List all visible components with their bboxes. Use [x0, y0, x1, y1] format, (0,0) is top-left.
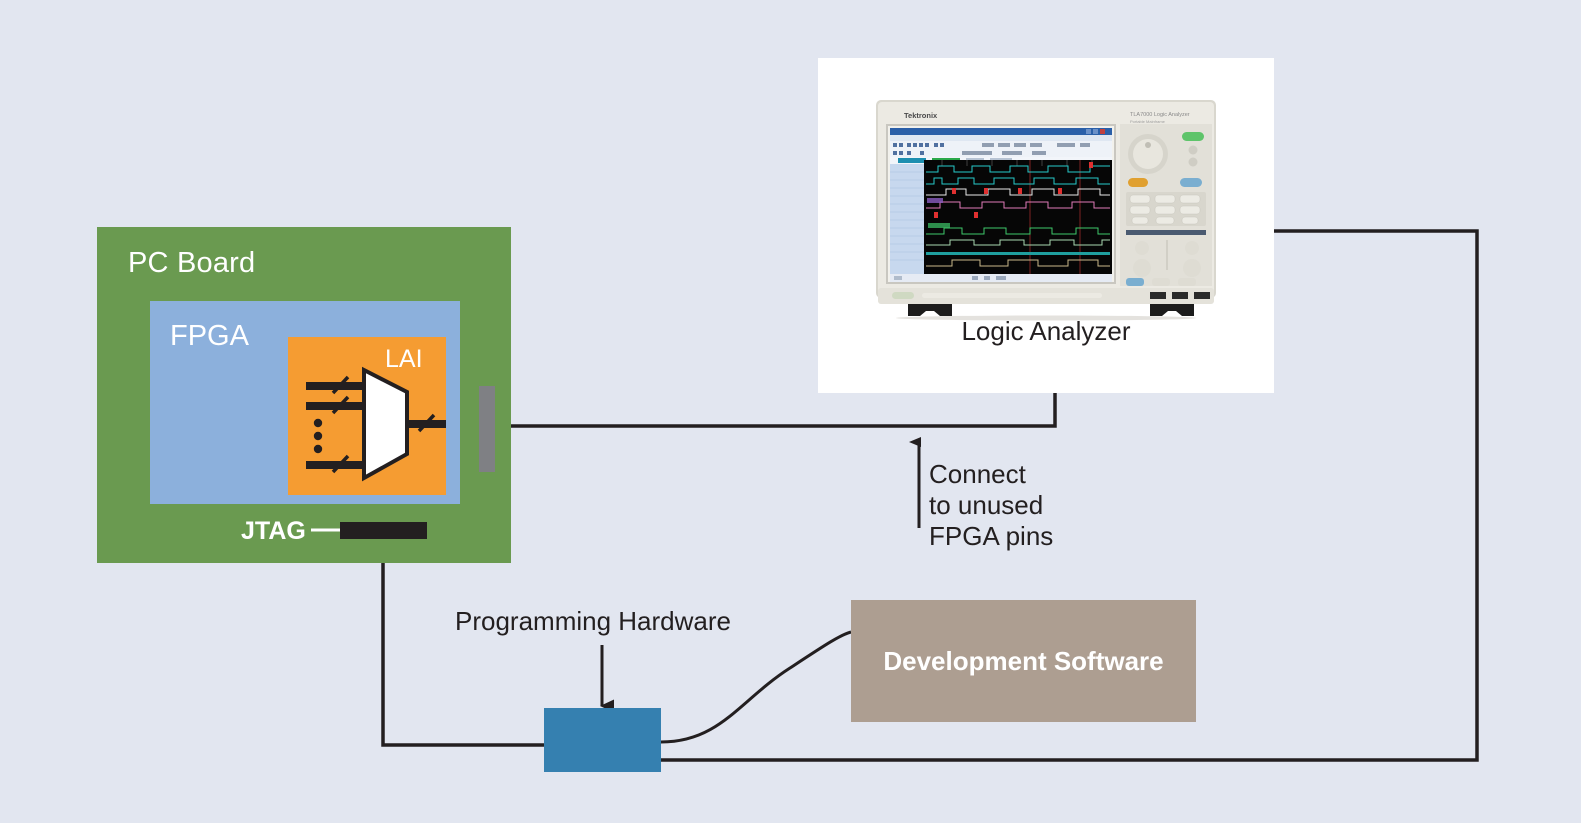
logic-analyzer-panel: Tektronix TLA7000 Logic Analyzer Portabl… [818, 58, 1274, 393]
wire-jtag-to-programming-hardware [383, 539, 544, 745]
connect-note-label: Connect to unused FPGA pins [929, 459, 1053, 552]
logic-analyzer-instrument-icon: Tektronix TLA7000 Logic Analyzer Portabl… [862, 92, 1230, 322]
development-software-box: Development Software [851, 600, 1196, 722]
wire-programming-hardware-to-dev-software [661, 632, 851, 742]
svg-text:Portable Mainframe: Portable Mainframe [1130, 119, 1166, 124]
svg-text:TLA7000 Logic Analyzer: TLA7000 Logic Analyzer [1130, 112, 1190, 118]
programming-hardware-label: Programming Hardware [455, 606, 731, 637]
jtag-connector [340, 522, 427, 539]
programming-hardware-box [544, 708, 661, 772]
svg-text:Tektronix: Tektronix [904, 111, 938, 120]
jtag-leader-line [97, 227, 511, 563]
jtag-label: JTAG [241, 517, 306, 546]
wire-fpga-to-analyzer [495, 392, 1055, 426]
diagram-canvas: PC Board FPGA LAI JTAG [0, 0, 1581, 823]
logic-analyzer-caption: Logic Analyzer [818, 316, 1274, 347]
development-software-label: Development Software [851, 646, 1196, 677]
